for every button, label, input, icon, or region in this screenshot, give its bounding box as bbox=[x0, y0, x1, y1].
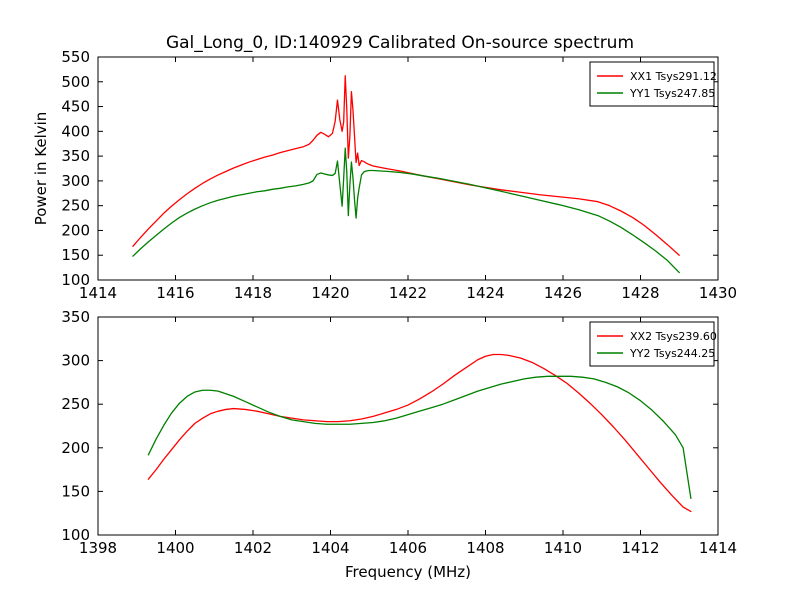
figure-canvas: Gal_Long_0, ID:140929 Calibrated On-sour… bbox=[0, 0, 800, 600]
top-spectrum-panel: 1414141614181420142214241426142814301001… bbox=[32, 48, 737, 302]
x-tick-label: 1418 bbox=[234, 284, 272, 302]
y-tick-label: 200 bbox=[61, 439, 90, 457]
y-tick-label: 400 bbox=[61, 122, 90, 140]
y-tick-label: 550 bbox=[61, 48, 90, 66]
y-tick-label: 100 bbox=[61, 271, 90, 289]
x-tick-label: 1426 bbox=[544, 284, 582, 302]
legend-entry-label: XX1 Tsys291.12 bbox=[630, 70, 717, 83]
x-tick-label: 1412 bbox=[621, 539, 659, 557]
legend[interactable]: XX1 Tsys291.12YY1 Tsys247.85 bbox=[590, 62, 717, 106]
bottom-spectrum-panel: 1398140014021404140614081410141214141001… bbox=[61, 308, 737, 581]
figure-title: Gal_Long_0, ID:140929 Calibrated On-sour… bbox=[166, 33, 634, 53]
x-tick-label: 1430 bbox=[699, 284, 737, 302]
y-tick-label: 450 bbox=[61, 98, 90, 116]
y-tick-label: 350 bbox=[61, 308, 90, 326]
x-tick-label: 1402 bbox=[234, 539, 272, 557]
y-tick-label: 250 bbox=[61, 197, 90, 215]
legend-entry-label: YY2 Tsys244.25 bbox=[629, 347, 715, 360]
x-tick-label: 1422 bbox=[389, 284, 427, 302]
y-tick-label: 300 bbox=[61, 352, 90, 370]
legend[interactable]: XX2 Tsys239.60YY2 Tsys244.25 bbox=[590, 322, 717, 366]
x-tick-label: 1406 bbox=[389, 539, 427, 557]
y-tick-label: 250 bbox=[61, 395, 90, 413]
y-tick-label: 350 bbox=[61, 147, 90, 165]
x-tick-label: 1410 bbox=[544, 539, 582, 557]
legend-entry-label: XX2 Tsys239.60 bbox=[630, 330, 717, 343]
y-tick-label: 150 bbox=[61, 246, 90, 264]
y-tick-label: 100 bbox=[61, 526, 90, 544]
x-tick-label: 1404 bbox=[311, 539, 349, 557]
x-tick-label: 1408 bbox=[466, 539, 504, 557]
y-axis-label: Power in Kelvin bbox=[32, 112, 50, 226]
y-tick-label: 300 bbox=[61, 172, 90, 190]
x-tick-label: 1424 bbox=[466, 284, 504, 302]
y-tick-label: 500 bbox=[61, 73, 90, 91]
x-axis-label: Frequency (MHz) bbox=[345, 563, 471, 581]
x-tick-label: 1428 bbox=[621, 284, 659, 302]
x-tick-label: 1400 bbox=[156, 539, 194, 557]
matplotlib-figure: Gal_Long_0, ID:140929 Calibrated On-sour… bbox=[0, 0, 800, 600]
x-tick-label: 1414 bbox=[699, 539, 737, 557]
y-tick-label: 150 bbox=[61, 482, 90, 500]
x-tick-label: 1416 bbox=[156, 284, 194, 302]
x-tick-label: 1420 bbox=[311, 284, 349, 302]
y-tick-label: 200 bbox=[61, 221, 90, 239]
legend-entry-label: YY1 Tsys247.85 bbox=[629, 87, 715, 100]
